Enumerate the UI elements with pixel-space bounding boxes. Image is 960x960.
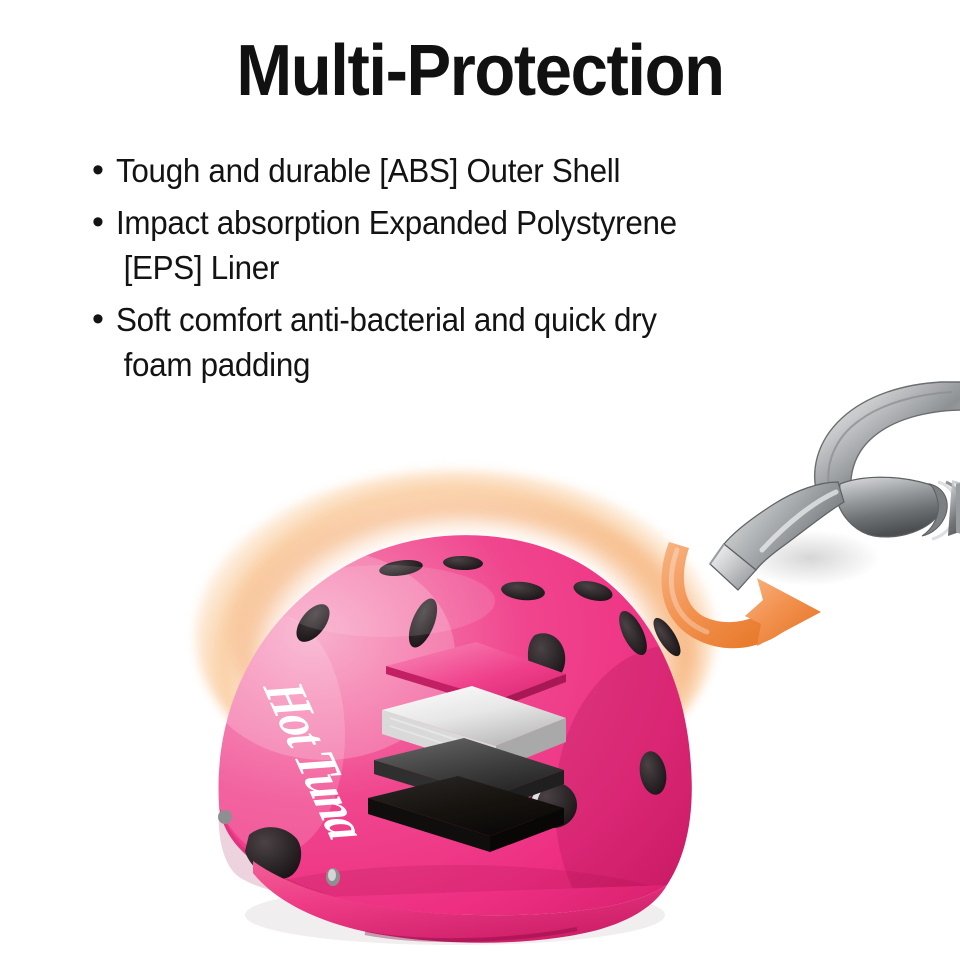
bullet-icon: • — [92, 200, 116, 244]
feature-line-primary: Impact absorption Expanded Polystyrene — [116, 204, 677, 241]
hammer-head-body — [838, 477, 942, 537]
feature-text-foam-padding: Soft comfort anti-bacterial and quick dr… — [116, 297, 853, 387]
helmet-strap-anchor — [218, 810, 232, 824]
page-title: Multi-Protection — [34, 34, 927, 110]
list-item: • Impact absorption Expanded Polystyrene… — [92, 200, 892, 290]
skate-helmet-image: Hot Tuna — [205, 505, 725, 960]
feature-text-eps-liner: Impact absorption Expanded Polystyrene[E… — [116, 200, 853, 290]
bullet-icon: • — [92, 148, 116, 192]
list-item: • Soft comfort anti-bacterial and quick … — [92, 297, 892, 387]
feature-line-continuation: [EPS] Liner — [116, 245, 853, 290]
list-item: • Tough and durable [ABS] Outer Shell — [92, 148, 892, 193]
feature-list: • Tough and durable [ABS] Outer Shell • … — [92, 148, 892, 394]
feature-text-outer-shell: Tough and durable [ABS] Outer Shell — [116, 148, 853, 193]
bullet-icon: • — [92, 297, 116, 341]
product-infographic: Multi-Protection • Tough and durable [AB… — [0, 0, 960, 960]
helmet-rivet — [326, 868, 340, 886]
feature-line-primary: Soft comfort anti-bacterial and quick dr… — [116, 301, 657, 338]
